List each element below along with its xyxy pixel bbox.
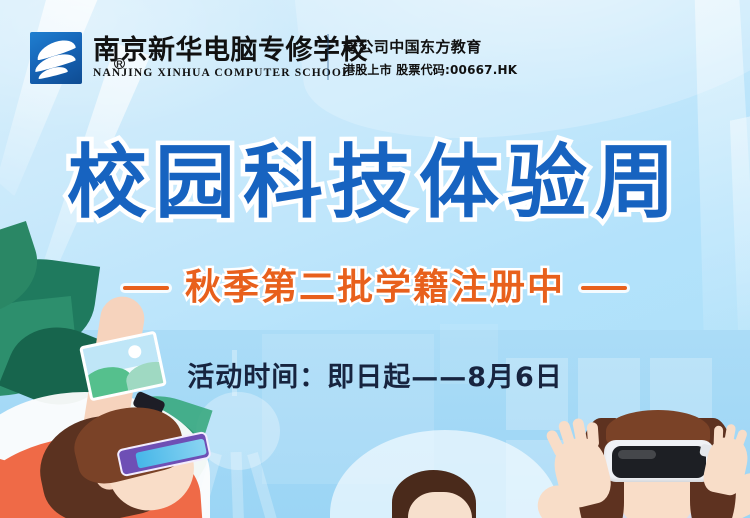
subtitle: 秋季第二批学籍注册中 — [185, 268, 565, 308]
page-title: 校园科技体验周 — [0, 143, 750, 223]
parent-company-block: 母公司中国东方教育 港股上市 股票代码:00667.HK — [343, 36, 517, 78]
logo-mark-icon — [30, 32, 82, 84]
header: R 南京新华电脑专修学校 NANJING XINHUA COMPUTER SCH… — [0, 0, 750, 100]
dash-right-icon — [581, 286, 627, 290]
parent-company-name: 母公司中国东方教育 — [343, 36, 517, 57]
promo-banner: R 南京新华电脑专修学校 NANJING XINHUA COMPUTER SCH… — [0, 0, 750, 518]
right-person-visor-gloss — [618, 450, 656, 459]
stock-listing-info: 港股上市 股票代码:00667.HK — [343, 61, 517, 78]
header-divider — [327, 34, 329, 80]
tripod-leg — [247, 452, 280, 518]
registered-trademark-icon: R — [114, 58, 125, 69]
tripod-head — [196, 392, 280, 470]
dash-left-icon — [123, 286, 169, 290]
school-logo[interactable]: R 南京新华电脑专修学校 NANJING XINHUA COMPUTER SCH… — [30, 32, 368, 84]
tripod-leg — [231, 452, 245, 518]
